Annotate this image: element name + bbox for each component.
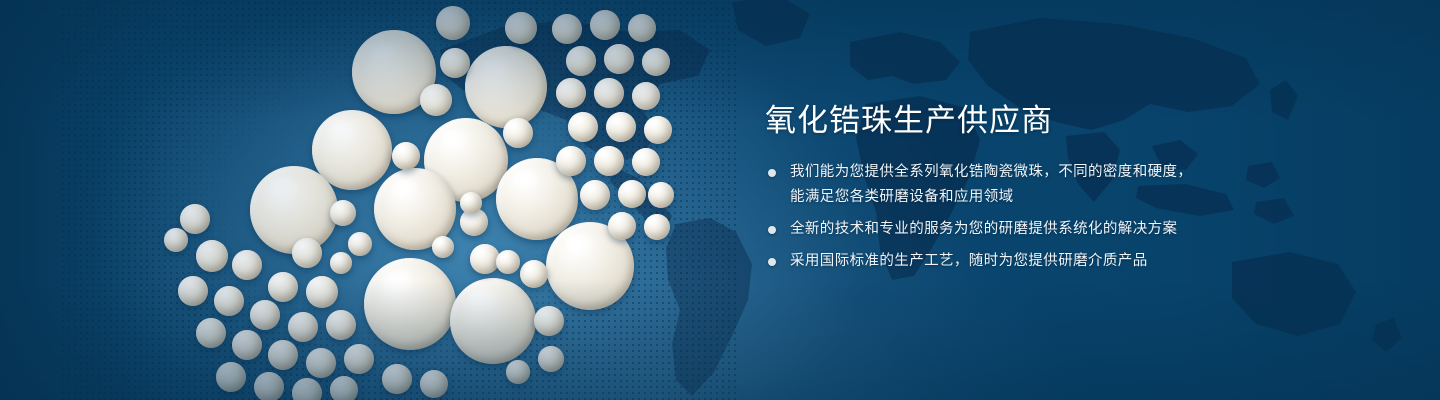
list-item-line: 全新的技术和专业的服务为您的研磨提供系统化的解决方案 [790,217,1285,242]
page-title: 氧化锆珠生产供应商 [765,104,1285,138]
list-item: 采用国际标准的生产工艺，随时为您提供研磨介质产品 [765,249,1285,274]
list-item-line: 我们能为您提供全系列氧化锆陶瓷微珠，不同的密度和硬度， [790,160,1285,185]
bullet-dot-icon [768,258,776,266]
list-item: 全新的技术和专业的服务为您的研磨提供系统化的解决方案 [765,217,1285,242]
feature-list: 我们能为您提供全系列氧化锆陶瓷微珠，不同的密度和硬度， 能满足您各类研磨设备和应… [765,160,1285,274]
list-item: 我们能为您提供全系列氧化锆陶瓷微珠，不同的密度和硬度， 能满足您各类研磨设备和应… [765,160,1285,210]
list-item-line: 能满足您各类研磨设备和应用领域 [790,185,1285,210]
banner-content: 氧化锆珠生产供应商 我们能为您提供全系列氧化锆陶瓷微珠，不同的密度和硬度， 能满… [765,104,1285,274]
list-item-line: 采用国际标准的生产工艺，随时为您提供研磨介质产品 [790,249,1285,274]
hero-banner: 氧化锆珠生产供应商 我们能为您提供全系列氧化锆陶瓷微珠，不同的密度和硬度， 能满… [0,0,1440,400]
bullet-dot-icon [768,169,776,177]
bullet-dot-icon [768,226,776,234]
